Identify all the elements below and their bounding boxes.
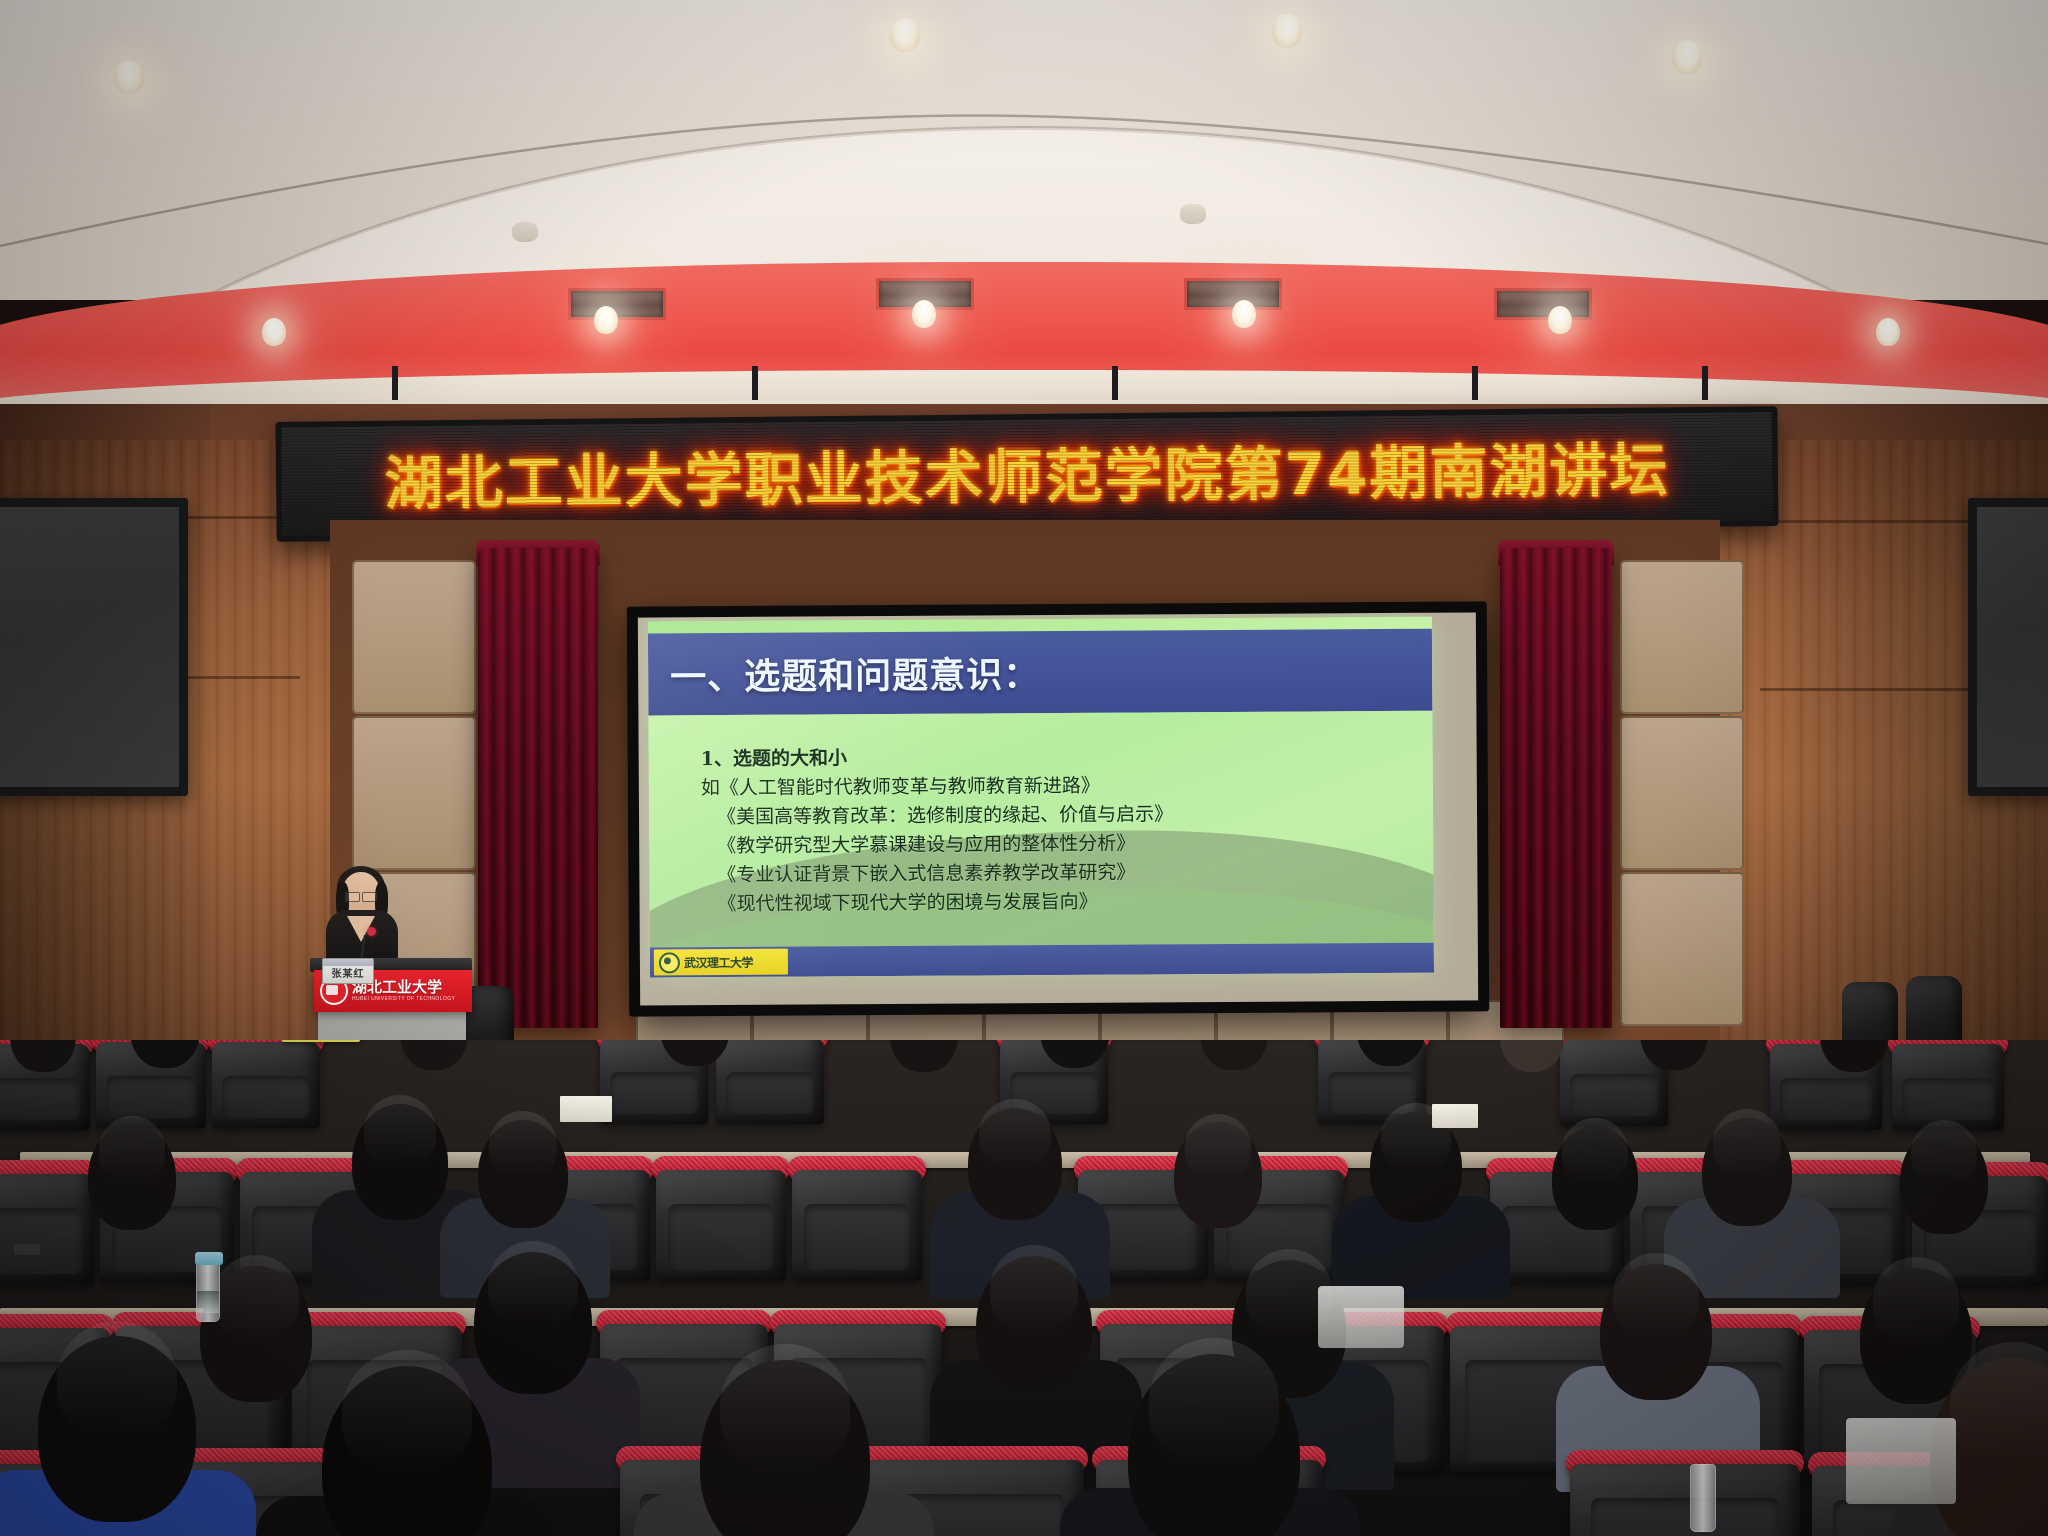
acoustic-panel [1620, 716, 1744, 870]
mount-pole [752, 366, 758, 400]
ceiling-spotlight-2 [890, 18, 920, 52]
seat-cushion [0, 1078, 80, 1120]
seat-cushion [1902, 1078, 1994, 1120]
seat-cushion [1780, 1078, 1872, 1120]
audience-head [700, 1360, 870, 1536]
mount-pole [1112, 366, 1118, 400]
audience-head [1900, 1128, 1988, 1234]
slide-line: 《教学研究型大学慕课建设与应用的整体性分析》 [701, 828, 1433, 861]
mount-pole [1702, 366, 1708, 400]
side-display-right [1968, 498, 2048, 796]
slide-line: 如《人工智能时代教师变革与教师教育新进路》 [701, 770, 1433, 803]
speaker-nameplate: 张某红 [322, 958, 374, 984]
seat-cushion [0, 1208, 82, 1274]
stage-curtain-left [478, 548, 598, 1028]
seat-cushion [222, 1076, 311, 1118]
audience-area [0, 1040, 2048, 1536]
nameplate-name: 张某红 [332, 965, 365, 980]
slide-text-block: 1、选题的大和小 如《人工智能时代教师变革与教师教育新进路》 《美国高等教育改革… [648, 711, 1433, 920]
seat [792, 1156, 922, 1280]
seat-cushion [726, 1072, 815, 1114]
seat-back [1570, 1464, 1800, 1536]
water-bottle-red-cap[interactable] [1690, 1464, 1716, 1532]
cove-spotlight-3 [912, 300, 936, 328]
projection-screen-frame: 一、选题和问题意识： 1、选题的大和小 如《人工智能时代教师变革与教师教育新进路… [627, 601, 1489, 1016]
audience-head [352, 1104, 448, 1220]
slide-footer-logo-text: 武汉理工大学 [684, 953, 753, 970]
handout-papers [560, 1096, 612, 1122]
water-bottle-clear[interactable] [196, 1262, 220, 1322]
handout-papers [1432, 1104, 1478, 1128]
audience-head [478, 1120, 568, 1228]
seat-back [1892, 1044, 2004, 1130]
cove-spotlight-1 [262, 318, 286, 346]
cove-spotlight-4 [1232, 300, 1256, 328]
speaker-glasses [345, 892, 377, 900]
seat-number-tag [14, 1244, 40, 1255]
plastic-bag [1318, 1286, 1404, 1348]
audience-head [474, 1252, 592, 1394]
stage-curtain-right [1500, 548, 1612, 1028]
seat-back [716, 1040, 824, 1124]
led-banner-text: 湖北工业大学职业技术师范学院第74期南湖讲坛 [384, 423, 1670, 520]
slide-footer-logo: 武汉理工大学 [654, 949, 788, 976]
slide-body: 1、选题的大和小 如《人工智能时代教师变革与教师教育新进路》 《美国高等教育改革… [648, 711, 1433, 948]
ceiling-fixture-a [512, 222, 538, 242]
led-banner-mount [272, 392, 1772, 408]
slide-title-bar: 一、选题和问题意识： [648, 629, 1432, 716]
ceiling-fixture-b [1180, 204, 1206, 224]
acoustic-panel [1620, 560, 1744, 714]
slide-line: 《美国高等教育改革：选修制度的缘起、价值与启示》 [701, 799, 1433, 832]
seat-cushion [106, 1076, 196, 1118]
audience-head [1600, 1264, 1712, 1400]
ceiling-wire [0, 58, 2048, 278]
nameplate-header [323, 959, 373, 966]
cove-spotlight-6 [1876, 318, 1900, 346]
acoustic-panel [1620, 872, 1744, 1026]
audience-head [88, 1124, 176, 1230]
podium-banner-en: HUBEI UNIVERSITY OF TECHNOLOGY [352, 997, 455, 1002]
seat-cushion [804, 1204, 911, 1270]
seat [0, 1160, 94, 1284]
seat-cushion [668, 1204, 775, 1270]
seat [212, 1040, 320, 1128]
acoustic-panel [352, 716, 476, 870]
yellow-tablet-screen[interactable] [282, 1040, 360, 1042]
audience-head [1552, 1126, 1638, 1230]
ceiling-vent-3 [1184, 278, 1282, 310]
audience-head [1370, 1112, 1462, 1222]
slide-line: 《现代性视域下现代大学的困境与发展旨向》 [701, 886, 1433, 919]
seat [1892, 1040, 2004, 1130]
ceiling-spotlight-1 [114, 60, 144, 94]
seat [716, 1040, 824, 1124]
seat-back [656, 1170, 786, 1280]
slide-footer-bar: 武汉理工大学 [650, 943, 1434, 978]
cove-spotlight-5 [1548, 306, 1572, 334]
side-display-left [0, 498, 188, 796]
microphone-icon [367, 927, 376, 936]
seat [656, 1156, 786, 1280]
slide-line: 《专业认证背景下嵌入式信息素养教学改革研究》 [701, 857, 1433, 890]
cove-spotlight-2 [594, 306, 618, 334]
audience-head [1128, 1354, 1300, 1536]
plastic-bag [1846, 1418, 1956, 1504]
projection-screen: 一、选题和问题意识： 1、选题的大和小 如《人工智能时代教师变革与教师教育新进路… [638, 612, 1478, 1005]
presentation-slide: 一、选题和问题意识： 1、选题的大和小 如《人工智能时代教师变革与教师教育新进路… [648, 617, 1434, 978]
university-seal-icon [659, 952, 680, 973]
mount-pole [1472, 366, 1478, 400]
acoustic-panel [352, 560, 476, 714]
seat [1570, 1450, 1800, 1536]
seat-back [212, 1042, 320, 1128]
audience-head [968, 1108, 1062, 1220]
seat-back [792, 1170, 922, 1280]
seat-cushion [1570, 1074, 1659, 1116]
ceiling-vent-4 [1494, 288, 1592, 320]
slide-title: 一、选题和问题意识： [670, 646, 1040, 700]
bottle-label [197, 1291, 219, 1313]
auditorium-scene: 湖北工业大学职业技术师范学院第74期南湖讲坛 一、选题和问题意识： [0, 0, 2048, 1536]
mount-pole [392, 366, 398, 400]
display-glass [1977, 507, 2048, 787]
ceiling-spotlight-4 [1672, 40, 1702, 74]
audience-head [976, 1256, 1092, 1396]
seat-back [0, 1174, 94, 1284]
seat-cushion [610, 1072, 699, 1114]
audience-head [322, 1366, 492, 1536]
slide-line: 1、选题的大和小 [701, 741, 1433, 774]
ceiling-spotlight-3 [1272, 14, 1302, 48]
bottle-cap-icon [195, 1252, 223, 1265]
seat-cushion [1591, 1498, 1780, 1536]
display-glass [0, 507, 179, 787]
audience-head [1174, 1122, 1262, 1228]
audience-head [38, 1336, 196, 1522]
audience-head [1702, 1118, 1792, 1226]
